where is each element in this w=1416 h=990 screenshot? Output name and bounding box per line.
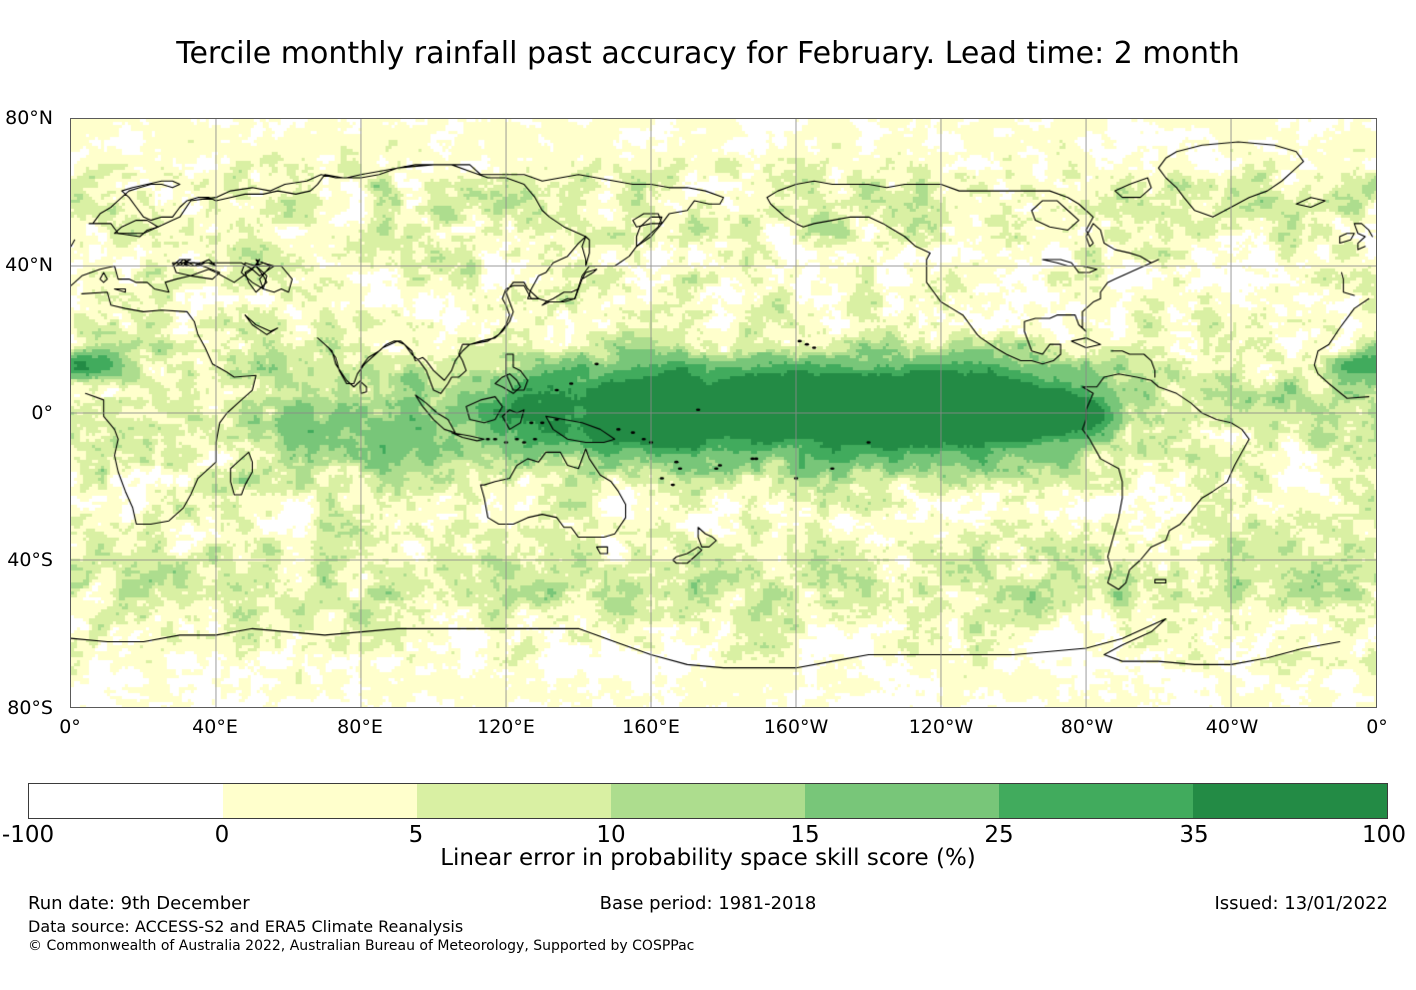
colorbar xyxy=(28,783,1388,819)
xtick-label: 120°E xyxy=(477,716,535,738)
figure-root: Tercile monthly rainfall past accuracy f… xyxy=(0,0,1416,990)
xtick-label: 0° xyxy=(59,716,81,738)
data-source-text: Data source: ACCESS-S2 and ERA5 Climate … xyxy=(28,917,463,936)
ytick-label: 0° xyxy=(0,402,62,424)
ytick-label: 40°S xyxy=(0,549,62,571)
ytick-label: 80°S xyxy=(0,697,62,719)
ytick-label: 40°N xyxy=(0,254,62,276)
colorbar-axis-label: Linear error in probability space skill … xyxy=(0,845,1416,871)
xtick-label: 160°E xyxy=(622,716,680,738)
xtick-label: 160°W xyxy=(764,716,829,738)
base-period-text: Base period: 1981-2018 xyxy=(0,893,1416,914)
issued-date-text: Issued: 13/01/2022 xyxy=(1214,893,1388,914)
xtick-label: 0° xyxy=(1366,716,1388,738)
xtick-label: 120°W xyxy=(909,716,974,738)
ytick-label: 80°N xyxy=(0,107,62,129)
xtick-label: 80°W xyxy=(1061,716,1113,738)
colorbar-segment-6 xyxy=(1193,784,1387,818)
colorbar-segment-0 xyxy=(29,784,223,818)
xtick-label: 80°E xyxy=(337,716,383,738)
xtick-label: 40°W xyxy=(1206,716,1258,738)
colorbar-gradient xyxy=(28,783,1388,819)
colorbar-segment-1 xyxy=(223,784,417,818)
copyright-text: © Commonwealth of Australia 2022, Austra… xyxy=(28,938,694,954)
skill-score-heatmap xyxy=(71,119,1376,707)
xtick-label: 40°E xyxy=(192,716,238,738)
colorbar-segment-5 xyxy=(999,784,1193,818)
colorbar-segment-2 xyxy=(417,784,611,818)
page-title: Tercile monthly rainfall past accuracy f… xyxy=(0,36,1416,71)
colorbar-segment-3 xyxy=(611,784,805,818)
map-plot-area[interactable] xyxy=(70,118,1377,708)
colorbar-segment-4 xyxy=(805,784,999,818)
footer: Run date: 9th December Base period: 1981… xyxy=(0,893,1416,973)
